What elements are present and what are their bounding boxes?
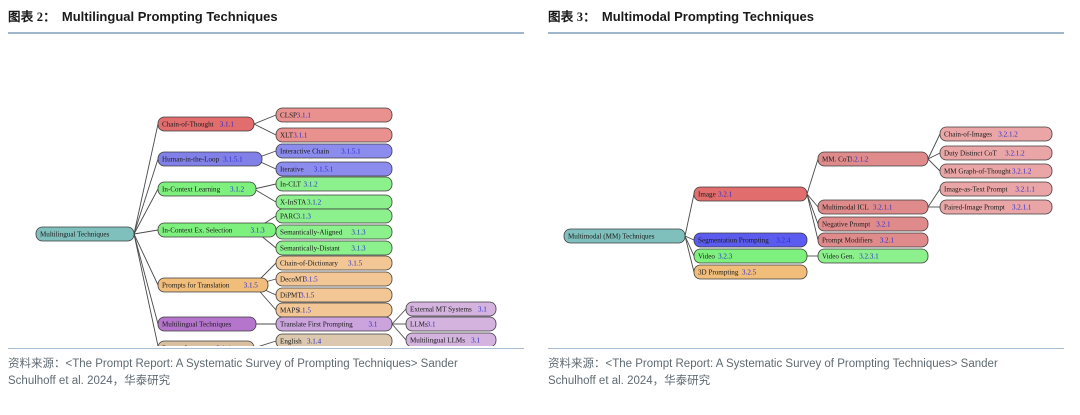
nodes-left: Multilingual TechniquesChain-of-Thought3…	[36, 108, 496, 346]
tree-node-section-number: 3.1.1	[293, 132, 308, 140]
tree-node-label: Multimodal ICL	[822, 204, 869, 212]
tree-node-label: Human-in-the-Loop	[162, 156, 220, 164]
tree-node-label: Paired-Image Prompt	[944, 204, 1005, 212]
diagram-multilingual: Multilingual TechniquesChain-of-Thought3…	[8, 34, 528, 346]
tree-node-section-number: 3.2.1	[876, 221, 891, 229]
tree-node-section-number: 3.1.4	[307, 338, 322, 346]
exhibit-header-left: 图表 2： Multilingual Prompting Techniques	[8, 0, 528, 28]
tree-node-section-number: 3.2.3	[718, 253, 733, 261]
tree-node-label: In-Context Ex. Selection	[162, 227, 233, 235]
tree-node-label: Chain-of-Thought	[162, 121, 214, 129]
tree-node-label: CLSP	[280, 112, 297, 120]
tree-node-label: Negative Prompt	[822, 221, 870, 229]
tree-node-section-number: 3.1.5.1	[341, 148, 361, 156]
tree-svg-left: Multilingual TechniquesChain-of-Thought3…	[8, 34, 528, 346]
source-suffix-left: 华泰研究	[124, 375, 170, 387]
source-note-left: 资料来源：<The Prompt Report: A Systematic Su…	[8, 349, 478, 390]
tree-node-section-number: 3.2.1.1	[1015, 186, 1035, 194]
tree-node-label: LLMs	[410, 321, 428, 329]
tree-node-label: English	[280, 338, 302, 346]
tree-node-section-number: 3.1.5	[244, 282, 259, 290]
tree-node-section-number: 3.1.5	[304, 276, 319, 284]
tree-node-section-number: 3.1	[427, 321, 436, 329]
source-prefix-left: 资料来源：	[8, 358, 66, 370]
tree-node-section-number: 3.1	[369, 321, 378, 329]
tree-node-section-number: 3.1.5.1	[314, 166, 334, 174]
tree-node-label: 3D Prompting	[698, 269, 739, 277]
tree-node-label: Video	[698, 253, 715, 261]
source-note-right: 资料来源：<The Prompt Report: A Systematic Su…	[548, 349, 1018, 390]
tree-node-section-number: 3.2.4	[776, 237, 791, 245]
exhibit-tag-right: 图表 3：	[548, 6, 596, 25]
tree-node-label: Image	[698, 191, 716, 199]
tree-node-section-number: 3.1.2	[230, 186, 245, 194]
tree-node-label: Multilingual Techniques	[40, 231, 110, 239]
tree-node-section-number: 3.1.4	[216, 345, 231, 346]
tree-node-section-number: 3.2.1	[880, 237, 895, 245]
tree-node-label: Multilingual LLMs	[410, 337, 465, 345]
exhibit-panel-multilingual: 图表 2： Multilingual Prompting Techniques	[8, 0, 528, 415]
exhibit-title-right: Multimodal Prompting Techniques	[602, 9, 814, 24]
tree-node-label: Iterative	[280, 166, 304, 174]
tree-node-section-number: 3.1.1	[297, 112, 312, 120]
exhibit-panel-multimodal: 图表 3： Multimodal Prompting Techniques	[548, 0, 1068, 415]
tree-node-label: In-Context Learning	[162, 186, 221, 194]
tree-node-section-number: 3.2.1.1	[873, 204, 893, 212]
tree-node-label: XLT	[280, 132, 294, 140]
tree-node-section-number: 3.2.1	[718, 191, 733, 199]
tree-node-section-number: 3.1.5	[300, 292, 315, 300]
exhibit-header-right: 图表 3： Multimodal Prompting Techniques	[548, 0, 1068, 28]
tree-node-label: X-InSTA	[280, 199, 307, 207]
tree-node-section-number: 3.2.1.2	[849, 156, 869, 164]
diagram-multimodal: Multimodal (MM) TechniquesImage3.2.1Segm…	[548, 34, 1068, 346]
tree-node-label: In-CLT	[280, 181, 302, 189]
tree-node-section-number: 3.1.5.1	[223, 156, 243, 164]
exhibit-title-left: Multilingual Prompting Techniques	[62, 9, 278, 24]
tree-node-section-number: 3.2.1.2	[1005, 150, 1025, 158]
source-prefix-right: 资料来源：	[548, 358, 606, 370]
tree-node-section-number: 3.1	[478, 306, 487, 314]
tree-node-label: Duty Distinct CoT	[944, 150, 997, 158]
tree-node-section-number: 3.2.1.2	[1012, 168, 1032, 176]
tree-node-label: Semantically-Distant	[280, 245, 340, 253]
tree-node-label: PARC	[280, 213, 298, 221]
tree-node-label: Semantically-Aligned	[280, 229, 343, 237]
tree-node-section-number: 3.1.2	[304, 181, 319, 189]
tree-node-section-number: 3.2.1.1	[1012, 204, 1032, 212]
exhibit-tag-left: 图表 2：	[8, 6, 56, 25]
tree-node-label: External MT Systems	[410, 306, 472, 314]
exhibit-page: 图表 2： Multilingual Prompting Techniques	[0, 0, 1080, 415]
tree-node-label: Interactive Chain	[280, 148, 329, 156]
source-text-left: <The Prompt Report: A Systematic Survey …	[8, 358, 458, 387]
tree-node-section-number: 3.1.3	[251, 227, 266, 235]
source-text-right: <The Prompt Report: A Systematic Survey …	[548, 358, 998, 387]
tree-node-section-number: 3.1.1	[220, 121, 235, 129]
tree-node-label: Prompts for Translation	[162, 282, 230, 290]
tree-node-section-number: 3.1.3	[297, 213, 312, 221]
tree-node-label: Video Gen.	[822, 253, 855, 261]
tree-node-section-number: 3.2.3.1	[859, 253, 879, 261]
tree-node-label: DiPMT	[280, 292, 302, 300]
tree-node-label: Image-as-Text Prompt	[944, 186, 1008, 194]
tree-node-label: Translate First Prompting	[280, 321, 353, 329]
tree-node-section-number: 3.2.5	[742, 269, 757, 277]
tree-node-section-number: 3.1	[471, 337, 480, 345]
tree-node-label: Segmentation Prompting	[698, 237, 769, 245]
tree-node-label: Prompt Modifiers	[822, 237, 873, 245]
source-suffix-right: 华泰研究	[664, 375, 710, 387]
tree-node-label: Prompt Language	[162, 345, 213, 346]
tree-node-label: MM. CoT	[822, 156, 851, 164]
tree-node-label: Multimodal (MM) Techniques	[568, 233, 655, 241]
tree-node-section-number: 3.2.1.2	[998, 131, 1018, 139]
tree-svg-right: Multimodal (MM) TechniquesImage3.2.1Segm…	[548, 34, 1068, 346]
tree-node-label: Multilingual Techniques	[162, 321, 232, 329]
tree-node-section-number: 3.1.2	[307, 199, 322, 207]
tree-node-label: DecoMT	[280, 276, 306, 284]
tree-node-label: Chain-of-Dictionary	[280, 260, 338, 268]
tree-node-section-number: 3.1.3	[351, 245, 366, 253]
tree-node-label: MM Graph-of-Thought	[944, 168, 1011, 176]
tree-node-section-number: 3.1.5	[348, 260, 363, 268]
tree-node-section-number: 3.1.3	[351, 229, 366, 237]
tree-node-label: Chain-of-Images	[944, 131, 992, 139]
tree-node-section-number: 3.1.5	[297, 307, 312, 315]
